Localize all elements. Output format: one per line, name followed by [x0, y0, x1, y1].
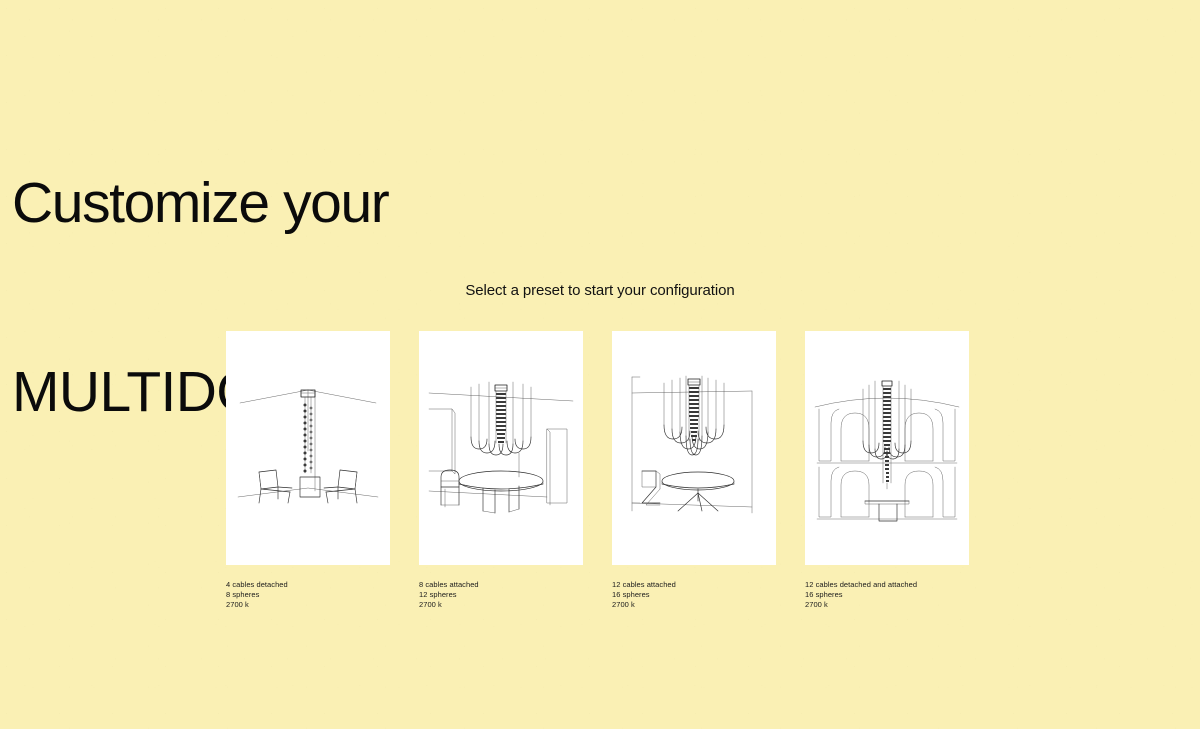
preset-card-4[interactable]: 12 cables detached and attached 16 spher… [805, 331, 969, 611]
page-title-line-1: Customize your [12, 172, 388, 235]
preset-caption-3: 12 cables attached 16 spheres 2700 k [612, 580, 776, 611]
preset-card-3[interactable]: 12 cables attached 16 spheres 2700 k [612, 331, 776, 611]
preset-spheres-3: 16 spheres [612, 590, 776, 600]
preset-cables-4: 12 cables detached and attached [805, 580, 969, 590]
preset-temperature-2: 2700 k [419, 600, 583, 610]
preset-temperature-4: 2700 k [805, 600, 969, 610]
preset-thumbnail-3[interactable] [612, 331, 776, 565]
preset-thumbnail-1[interactable] [226, 331, 390, 565]
preset-temperature-3: 2700 k [612, 600, 776, 610]
preset-spheres-2: 12 spheres [419, 590, 583, 600]
preset-card-1[interactable]: 4 cables detached 8 spheres 2700 k [226, 331, 390, 611]
preset-caption-4: 12 cables detached and attached 16 spher… [805, 580, 969, 611]
preset-caption-1: 4 cables detached 8 spheres 2700 k [226, 580, 390, 611]
preset-thumbnail-2[interactable] [419, 331, 583, 565]
preset-temperature-1: 2700 k [226, 600, 390, 610]
preset-spheres-1: 8 spheres [226, 590, 390, 600]
preset-cables-1: 4 cables detached [226, 580, 390, 590]
preset-spheres-4: 16 spheres [805, 590, 969, 600]
preset-card-2[interactable]: 8 cables attached 12 spheres 2700 k [419, 331, 583, 611]
preset-instruction-text: Select a preset to start your configurat… [0, 281, 1200, 301]
preset-list: 4 cables detached 8 spheres 2700 k [226, 331, 974, 611]
preset-cables-2: 8 cables attached [419, 580, 583, 590]
preset-thumbnail-4[interactable] [805, 331, 969, 565]
preset-cables-3: 12 cables attached [612, 580, 776, 590]
preset-caption-2: 8 cables attached 12 spheres 2700 k [419, 580, 583, 611]
